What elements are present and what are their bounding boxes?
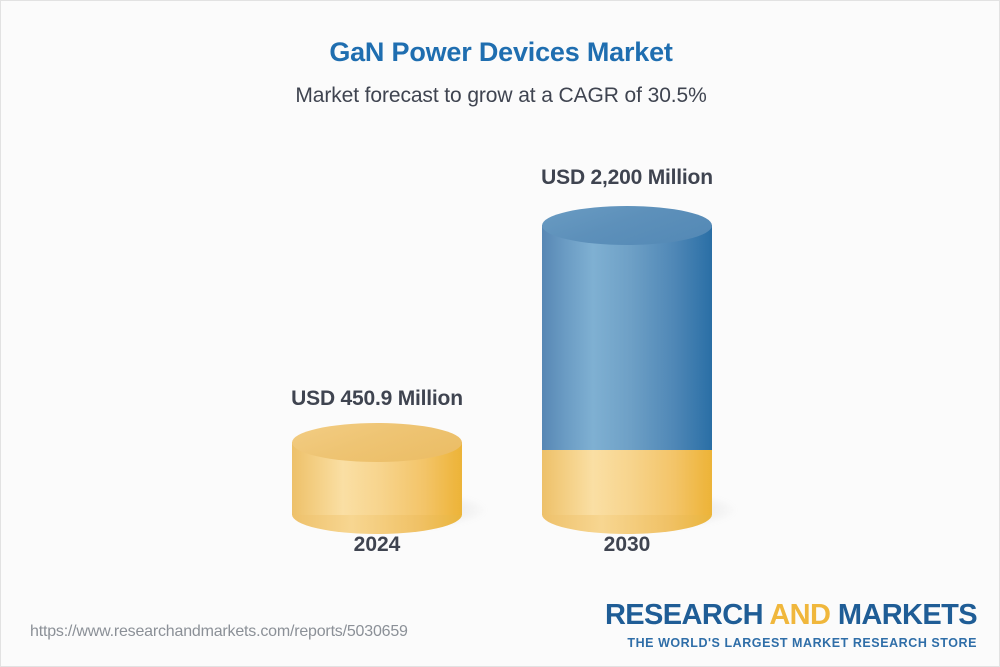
logo-word-markets: MARKETS — [838, 599, 977, 631]
bar-2030-category-label: 2030 — [477, 533, 777, 557]
infographic-canvas: GaN Power Devices Market Market forecast… — [0, 0, 1000, 667]
logo-word-and: AND — [769, 599, 830, 631]
bar-2030-base-segment-body — [542, 450, 712, 515]
logo-wordmark: RESEARCH AND MARKETS — [605, 601, 977, 630]
bar-2030-growth-segment-body — [542, 225, 712, 450]
logo-tagline: THE WORLD'S LARGEST MARKET RESEARCH STOR… — [605, 636, 977, 650]
bar-2030-value-label: USD 2,200 Million — [477, 166, 777, 190]
chart-plot-area: USD 450.9 Million 2024 USD 2,200 Million — [1, 1, 1000, 667]
report-url[interactable]: https://www.researchandmarkets.com/repor… — [30, 623, 408, 641]
bar-2024-value-label: USD 450.9 Million — [227, 387, 527, 411]
logo-word-research: RESEARCH — [605, 599, 763, 631]
bar-2024-top-cap — [292, 423, 462, 462]
researchandmarkets-logo[interactable]: RESEARCH AND MARKETS THE WORLD'S LARGEST… — [605, 601, 977, 650]
bar-2030-top-cap — [542, 206, 712, 245]
